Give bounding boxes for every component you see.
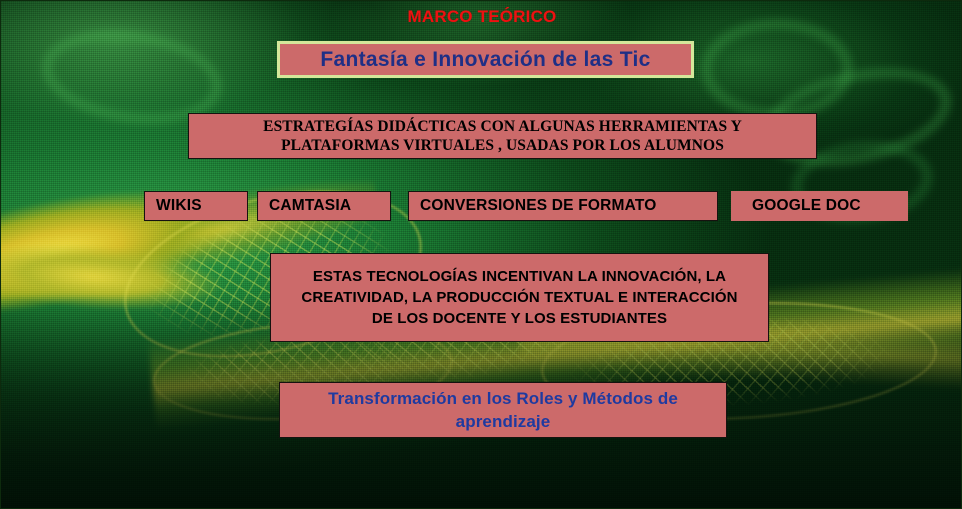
impact-box: ESTAS TECNOLOGÍAS INCENTIVAN LA INNOVACI… <box>270 253 769 342</box>
impact-line-2: CREATIVIDAD, LA PRODUCCIÓN TEXTUAL E INT… <box>271 287 768 308</box>
slide-canvas: MARCO TEÓRICO Fantasía e Innovación de l… <box>0 0 962 509</box>
tool-label: GOOGLE DOC <box>743 197 907 215</box>
title-box: Fantasía e Innovación de las Tic <box>277 41 694 78</box>
tool-box-camtasia: CAMTASIA <box>257 191 391 221</box>
strategies-box: ESTRATEGÍAS DIDÁCTICAS CON ALGUNAS HERRA… <box>188 113 817 159</box>
tool-label: WIKIS <box>156 197 247 215</box>
strategies-line-1: ESTRATEGÍAS DIDÁCTICAS CON ALGUNAS HERRA… <box>189 117 816 136</box>
transformation-box: Transformación en los Roles y Métodos de… <box>279 382 727 438</box>
tool-label: CAMTASIA <box>269 197 390 215</box>
tool-box-google-doc: GOOGLE DOC <box>731 191 908 221</box>
strategies-line-2: PLATAFORMAS VIRTUALES , USADAS POR LOS A… <box>189 136 816 155</box>
title-text: Fantasía e Innovación de las Tic <box>280 48 691 72</box>
tool-label: CONVERSIONES DE FORMATO <box>420 197 717 215</box>
transformation-text: Transformación en los Roles y Métodos de… <box>280 387 726 434</box>
impact-line-3: DE LOS DOCENTE Y LOS ESTUDIANTES <box>271 308 768 329</box>
transformation-line-1: Transformación en los Roles y Métodos de <box>280 387 726 410</box>
impact-line-1: ESTAS TECNOLOGÍAS INCENTIVAN LA INNOVACI… <box>271 266 768 287</box>
slide-heading: MARCO TEÓRICO <box>1 7 962 27</box>
tool-box-conversiones-de-formato: CONVERSIONES DE FORMATO <box>408 191 718 221</box>
transformation-line-2: aprendizaje <box>280 410 726 433</box>
impact-text: ESTAS TECNOLOGÍAS INCENTIVAN LA INNOVACI… <box>271 266 768 330</box>
tool-box-wikis: WIKIS <box>144 191 248 221</box>
strategies-text: ESTRATEGÍAS DIDÁCTICAS CON ALGUNAS HERRA… <box>189 117 816 156</box>
